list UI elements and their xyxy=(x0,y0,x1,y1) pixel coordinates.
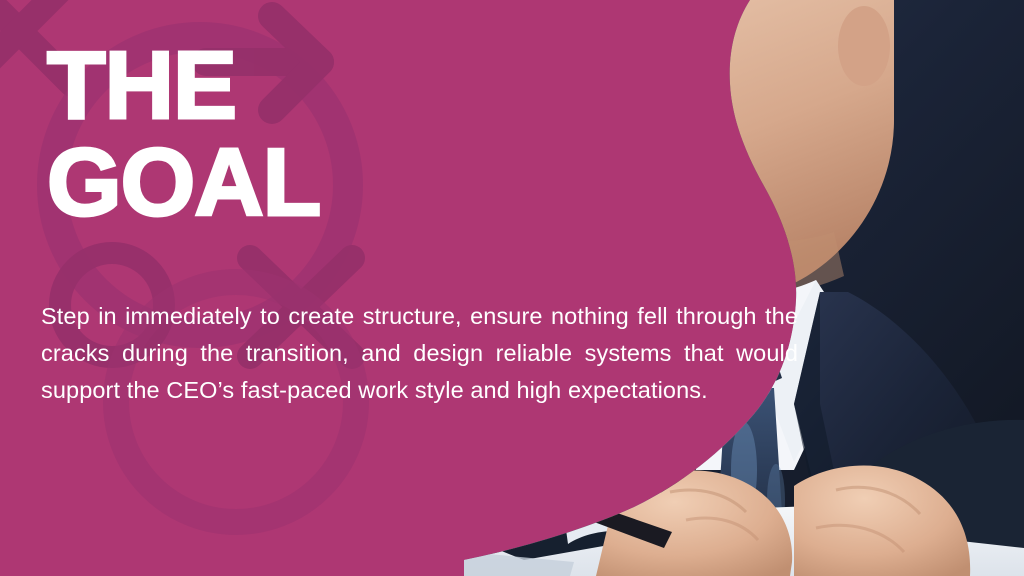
page-title: THE GOAL xyxy=(47,40,687,228)
heading-line-2: GOAL xyxy=(47,137,687,228)
heading-line-1: THE xyxy=(47,40,687,131)
goal-paragraph: Step in immediately to create structure,… xyxy=(41,298,798,409)
slide-canvas: THE GOAL Step in immediately to create s… xyxy=(0,0,1024,576)
body-text-block: Step in immediately to create structure,… xyxy=(41,298,798,409)
